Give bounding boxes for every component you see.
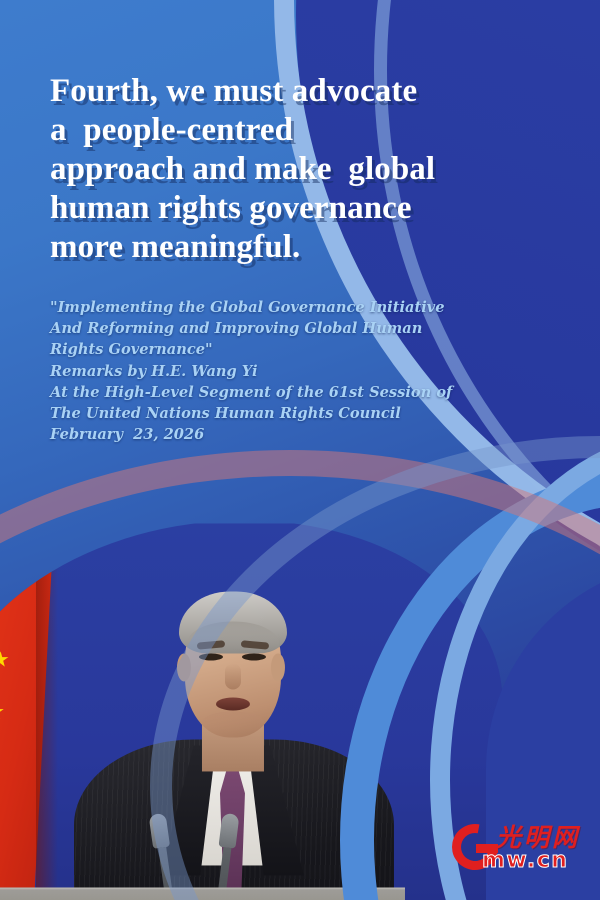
podium — [0, 887, 405, 900]
speaker-nose — [225, 663, 241, 689]
speaker-eye-left — [199, 653, 223, 660]
gmw-logo[interactable]: 光明网 mw.cn — [452, 818, 592, 876]
logo-domain-text: mw.cn — [482, 848, 568, 873]
speaker-hair — [179, 591, 287, 653]
speaker-ear-right — [271, 653, 285, 681]
headline: Fourth, we must advocate a people-centre… — [50, 72, 470, 267]
speaker-chin — [202, 711, 264, 733]
speaker-ear-left — [177, 653, 191, 681]
subtitle-block: "Implementing the Global Governance Init… — [50, 297, 470, 445]
speaker-mouth — [216, 697, 250, 710]
poster-root: ★ ★ ★ ★ ★ — [0, 0, 600, 900]
speaker-eye-right — [242, 653, 266, 660]
